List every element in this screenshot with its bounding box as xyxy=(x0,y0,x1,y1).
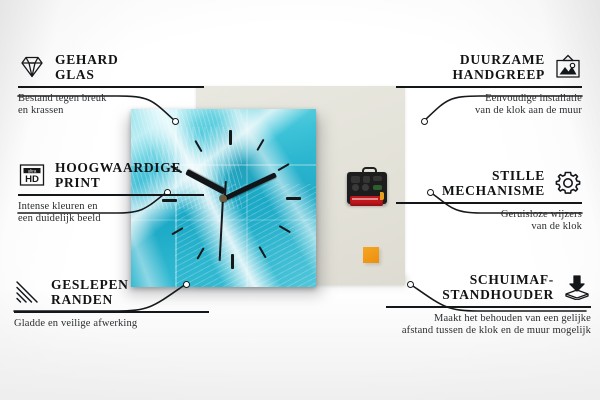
feature-rule xyxy=(18,86,204,88)
feature-title: SCHUIMAF- STANDHOUDER xyxy=(442,272,554,302)
feature-desc: Geruisloze wijzers van de klok xyxy=(396,209,582,234)
leader-dot-duurzame-handgreep xyxy=(421,118,428,125)
gear-icon xyxy=(554,170,582,196)
feature-rule xyxy=(396,202,582,204)
feature-schuimafstandhouder[interactable]: SCHUIMAF- STANDHOUDER Maakt het behouden… xyxy=(386,272,591,338)
diamond-icon xyxy=(18,54,46,80)
feature-title: GEHARD GLAS xyxy=(55,52,118,82)
feature-rule xyxy=(386,306,591,308)
feature-desc: Intense kleuren en een duidelijk beeld xyxy=(18,201,204,226)
feature-gehard-glas[interactable]: GEHARD GLAS Bestand tegen breuk en krass… xyxy=(18,52,204,118)
svg-text:ultra: ultra xyxy=(28,168,37,173)
feature-title: HOOGWAARDIGE PRINT xyxy=(55,160,181,190)
feature-title: DUURZAME HANDGREEP xyxy=(452,52,545,82)
feature-rule xyxy=(396,86,582,88)
infographic-canvas: GEHARD GLAS Bestand tegen breuk en krass… xyxy=(0,0,600,400)
feature-rule xyxy=(18,194,204,196)
feature-desc: Gladde en veilige afwerking xyxy=(14,318,209,331)
svg-text:HD: HD xyxy=(25,174,39,185)
clock-movement xyxy=(347,167,387,211)
feature-desc: Bestand tegen breuk en krassen xyxy=(18,93,204,118)
ultra-hd-icon: ultra HD xyxy=(18,162,46,188)
feature-desc: Eenvoudige installatie van de klok aan d… xyxy=(396,93,582,118)
framed-picture-icon xyxy=(554,54,582,80)
foam-spacer xyxy=(363,247,379,263)
feature-stille-mechanisme[interactable]: STILLE MECHANISME Geruisloze wijzers van… xyxy=(396,168,582,234)
press-down-pad-icon xyxy=(563,274,591,300)
feature-duurzame-handgreep[interactable]: DUURZAME HANDGREEP Eenvoudige installati… xyxy=(396,52,582,118)
feature-geslepen-randen[interactable]: GESLEPEN RANDEN Gladde en veilige afwerk… xyxy=(14,277,209,330)
hands-pin xyxy=(220,195,227,202)
feature-desc: Maakt het behouden van een gelijke afsta… xyxy=(386,313,591,338)
battery-terminal xyxy=(380,192,384,200)
leader-dot-gehard-glas xyxy=(172,118,179,125)
beveled-edge-icon xyxy=(14,279,42,305)
feature-hoogwaardige-print[interactable]: ultra HD HOOGWAARDIGE PRINT Intense kleu… xyxy=(18,160,204,226)
feature-rule xyxy=(14,311,209,313)
feature-title: GESLEPEN RANDEN xyxy=(51,277,129,307)
feature-title: STILLE MECHANISME xyxy=(442,168,545,198)
